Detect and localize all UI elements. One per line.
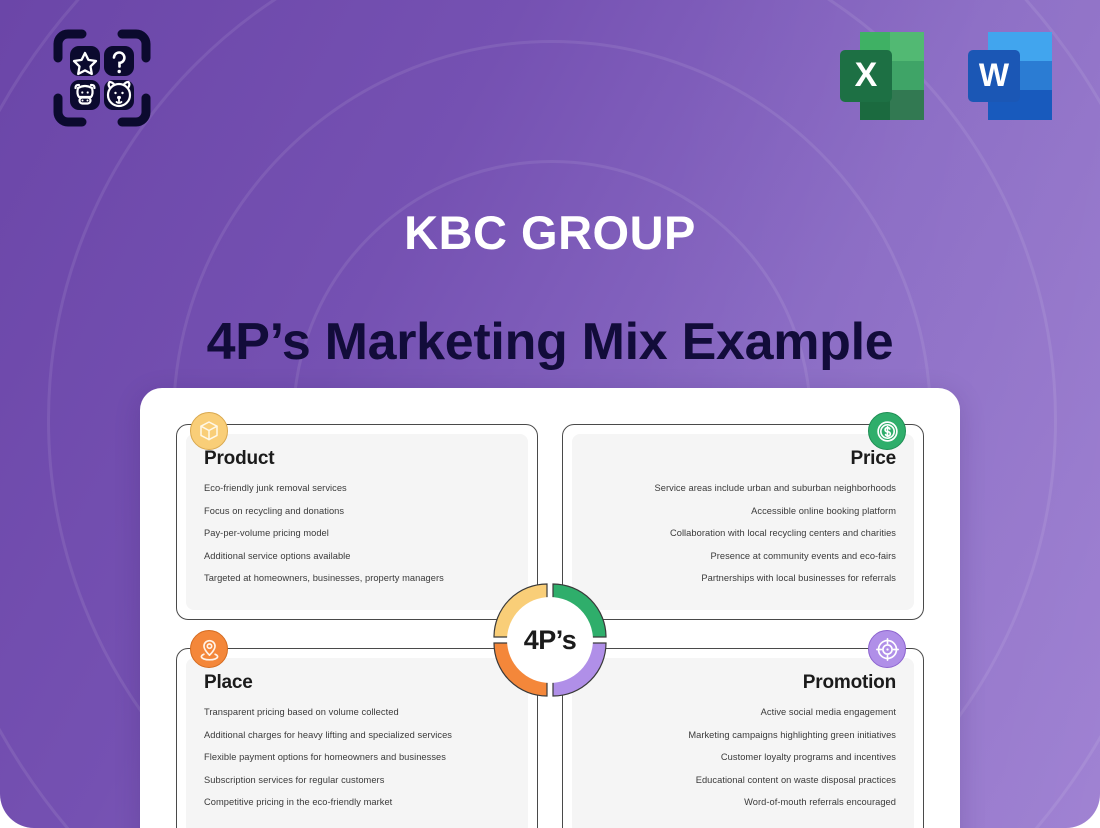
quadrant-title-price: Price (590, 448, 896, 470)
donut-center-label: 4P’s (524, 625, 577, 656)
quadrant-title-place: Place (204, 672, 510, 694)
quadrant-title-promotion: Promotion (590, 672, 896, 694)
list-item: Pay-per-volume pricing model (204, 528, 510, 540)
microsoft-excel-icon[interactable]: X (832, 28, 932, 124)
donut-center: 4P’s (507, 597, 593, 683)
office-app-icons: X W (832, 28, 1060, 124)
list-item: Customer loyalty programs and incentives (590, 752, 896, 764)
list-item: Service areas include urban and suburban… (590, 483, 896, 495)
four-p-donut-chart: 4P’s (483, 573, 617, 707)
list-item: Accessible online booking platform (590, 506, 896, 518)
quadrant-list-price: Service areas include urban and suburban… (590, 483, 896, 585)
brand-title: KBC GROUP (0, 205, 1100, 260)
list-item: Focus on recycling and donations (204, 506, 510, 518)
list-item: Targeted at homeowners, businesses, prop… (204, 573, 510, 585)
svg-text:W: W (979, 57, 1010, 93)
svg-text:X: X (855, 56, 878, 94)
list-item: Presence at community events and eco-fai… (590, 551, 896, 563)
dollar-coin-icon[interactable] (868, 412, 906, 450)
location-pin-icon[interactable] (190, 630, 228, 668)
quadrant-list-promotion: Active social media engagement Marketing… (590, 707, 896, 809)
package-box-icon[interactable] (190, 412, 228, 450)
list-item: Transparent pricing based on volume coll… (204, 707, 510, 719)
list-item: Active social media engagement (590, 707, 896, 719)
quadrant-title-product: Product (204, 448, 510, 470)
list-item: Flexible payment options for homeowners … (204, 752, 510, 764)
scan-pets-logo[interactable] (48, 24, 156, 132)
list-item: Additional charges for heavy lifting and… (204, 730, 510, 742)
quadrant-list-product: Eco-friendly junk removal services Focus… (204, 483, 510, 585)
list-item: Educational content on waste disposal pr… (590, 775, 896, 787)
quadrant-list-place: Transparent pricing based on volume coll… (204, 707, 510, 809)
list-item: Collaboration with local recycling cente… (590, 528, 896, 540)
microsoft-word-icon[interactable]: W (960, 28, 1060, 124)
list-item: Additional service options available (204, 551, 510, 563)
page-title: 4P’s Marketing Mix Example (0, 312, 1100, 372)
list-item: Marketing campaigns highlighting green i… (590, 730, 896, 742)
list-item: Partnerships with local businesses for r… (590, 573, 896, 585)
list-item: Eco-friendly junk removal services (204, 483, 510, 495)
target-crosshair-icon[interactable] (868, 630, 906, 668)
list-item: Competitive pricing in the eco-friendly … (204, 797, 510, 809)
list-item: Subscription services for regular custom… (204, 775, 510, 787)
list-item: Word-of-mouth referrals encouraged (590, 797, 896, 809)
slide-canvas: X W KBC GROUP 4P’s Marketing Mix Example… (0, 0, 1100, 828)
